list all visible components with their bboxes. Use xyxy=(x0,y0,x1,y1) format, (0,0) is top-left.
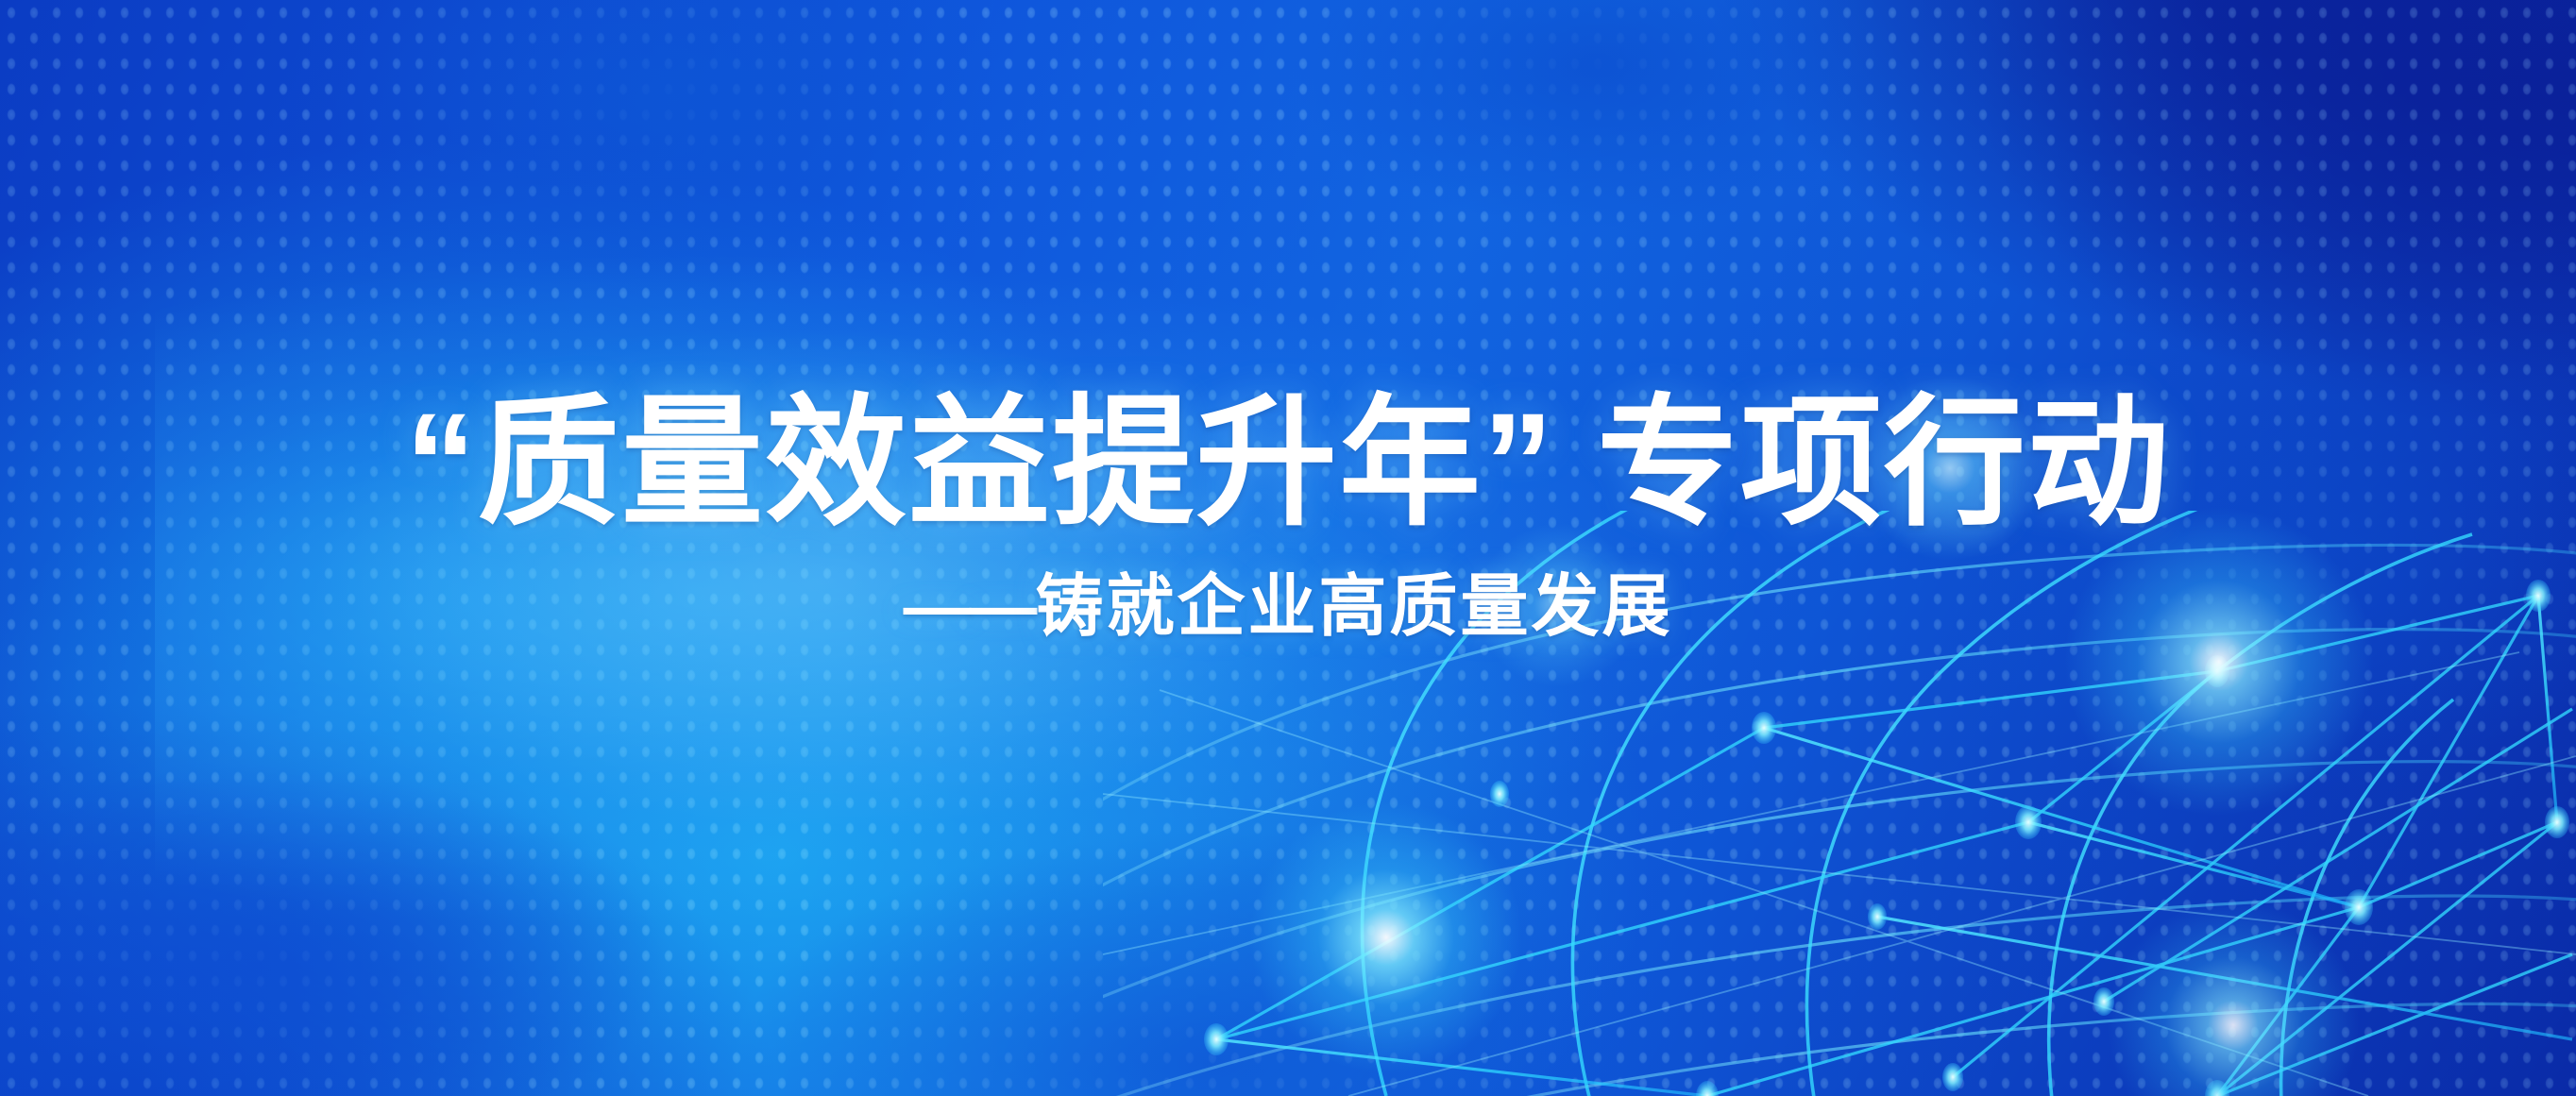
banner-subheadline: ——铸就企业高质量发展 xyxy=(0,566,2576,648)
subheadline-text: 铸就企业高质量发展 xyxy=(1035,569,1672,645)
headline-open-quote: “ xyxy=(405,383,478,542)
banner-text-block: “质量效益提升年”专项行动 ——铸就企业高质量发展 xyxy=(0,383,2576,648)
headline-close-quote: ” xyxy=(1483,383,1555,542)
promo-banner: “质量效益提升年”专项行动 ——铸就企业高质量发展 xyxy=(0,0,2576,1096)
subheadline-dash: —— xyxy=(903,569,1035,645)
headline-quoted-text: 质量效益提升年 xyxy=(478,383,1483,542)
headline-trailing-text: 专项行动 xyxy=(1597,383,2171,542)
banner-headline: “质量效益提升年”专项行动 xyxy=(0,383,2576,542)
